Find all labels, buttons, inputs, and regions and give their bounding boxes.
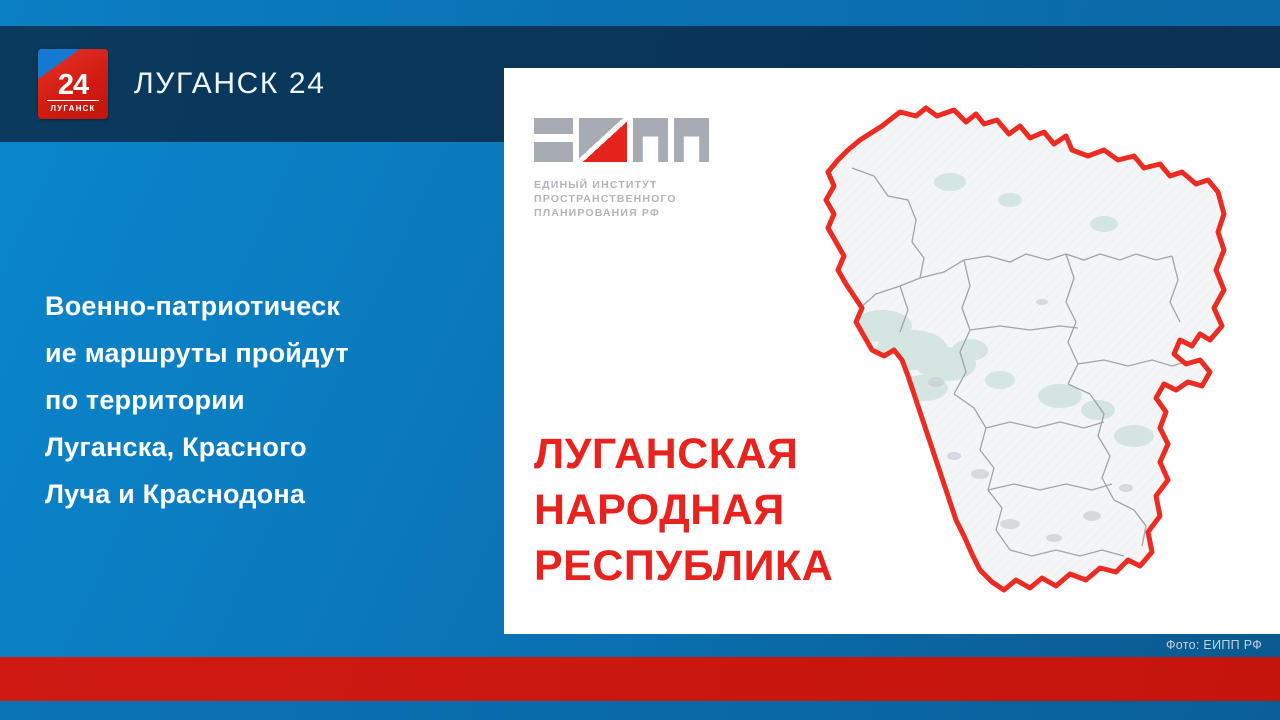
lnr-map: [804, 68, 1280, 634]
republic-name-line: НАРОДНАЯ: [534, 482, 833, 538]
headline: Военно-патриотическ ие маршруты пройдут …: [45, 283, 465, 518]
bottom-accent-strip: [0, 701, 1280, 720]
eipp-logo: ЕДИНЫЙ ИНСТИТУТ ПРОСТРАНСТВЕННОГО ПЛАНИР…: [534, 116, 744, 220]
logo-number-label: 24: [38, 71, 108, 100]
headline-line: Луча и Краснодона: [45, 471, 465, 518]
eipp-name: ЕДИНЫЙ ИНСТИТУТ ПРОСТРАНСТВЕННОГО ПЛАНИР…: [534, 178, 744, 220]
logo-city-label: ЛУГАНСК: [38, 105, 108, 113]
headline-line: по территории: [45, 377, 465, 424]
headline-line: Луганска, Красного: [45, 424, 465, 471]
news-card: 24 ЛУГАНСК ЛУГАНСК 24 Военно-патриотичес…: [0, 0, 1280, 720]
image-card: ЕДИНЫЙ ИНСТИТУТ ПРОСТРАНСТВЕННОГО ПЛАНИР…: [504, 68, 1280, 634]
photo-credit: Фото: ЕИПП РФ: [1166, 638, 1262, 652]
luhansk24-logo[interactable]: 24 ЛУГАНСК: [38, 49, 108, 119]
republic-name-line: РЕСПУБЛИКА: [534, 538, 833, 594]
eipp-name-line: ПЛАНИРОВАНИЯ РФ: [534, 206, 744, 220]
headline-line: ие маршруты пройдут: [45, 330, 465, 377]
eipp-pi-shape-1: [633, 118, 668, 162]
republic-name: ЛУГАНСКАЯ НАРОДНАЯ РЕСПУБЛИКА: [534, 426, 833, 594]
headline-line: Военно-патриотическ: [45, 283, 465, 330]
logo-divider-rule: [47, 100, 99, 102]
eipp-name-line: ЕДИНЫЙ ИНСТИТУТ: [534, 178, 744, 192]
eipp-name-line: ПРОСТРАНСТВЕННОГО: [534, 192, 744, 206]
top-accent-strip: [0, 0, 1280, 26]
bottom-red-band: [0, 657, 1280, 701]
eipp-bar-top: [534, 118, 573, 134]
republic-name-line: ЛУГАНСКАЯ: [534, 426, 833, 482]
channel-title: ЛУГАНСК 24: [134, 67, 326, 101]
eipp-pi-shape-2: [674, 118, 709, 162]
eipp-logomark-icon: [534, 116, 714, 164]
eipp-bar-bottom: [534, 142, 573, 162]
eipp-diagonal-square-icon: [579, 118, 627, 162]
